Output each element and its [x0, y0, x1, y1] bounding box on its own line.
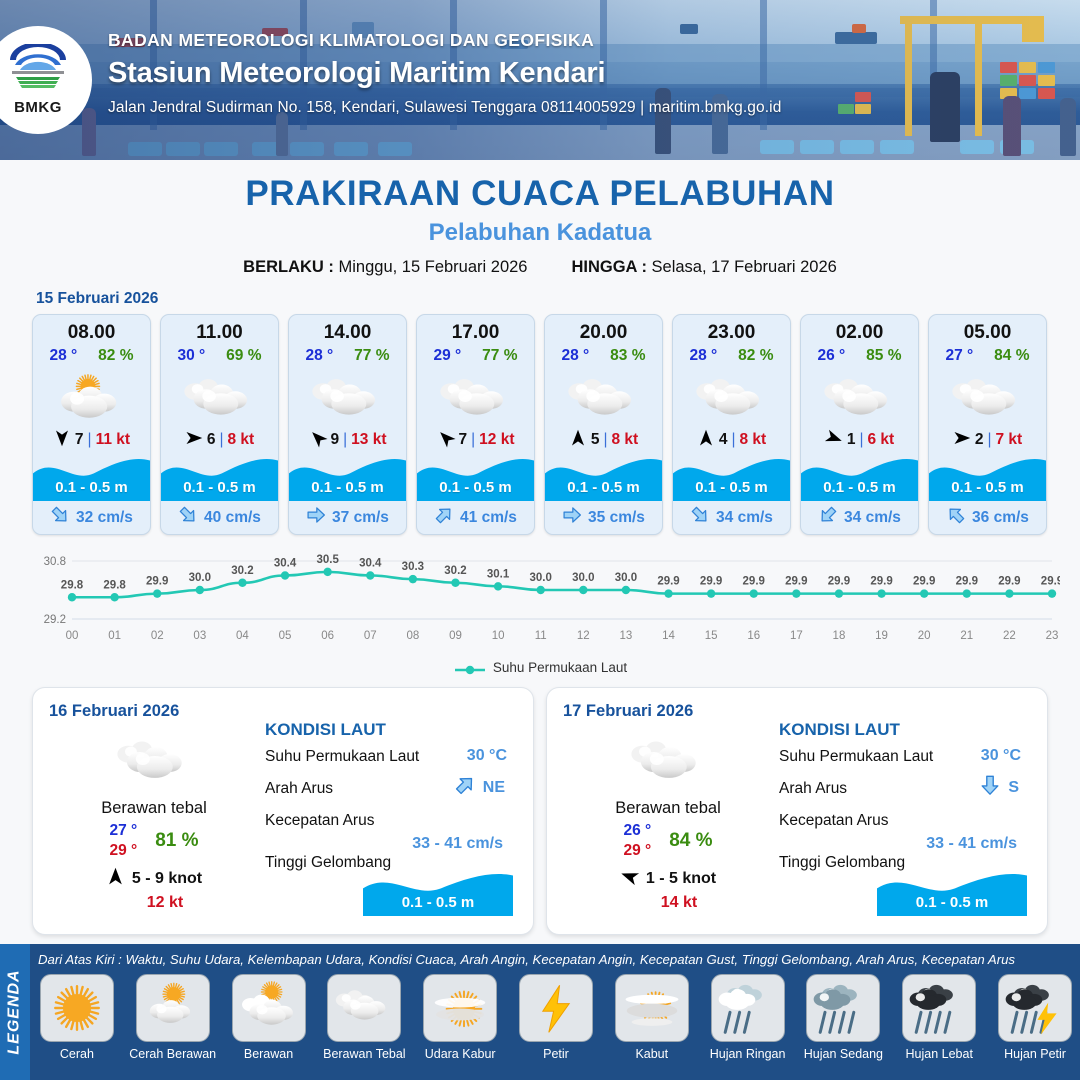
legend-item: Hujan Sedang: [799, 974, 889, 1061]
daily-condition: Berawan tebal: [563, 799, 773, 818]
legend-item-label: Hujan Sedang: [804, 1047, 883, 1061]
legend-bar: LEGENDA Dari Atas Kiri : Waktu, Suhu Uda…: [0, 944, 1080, 1080]
card-wave: 0.1 - 0.5 m: [929, 455, 1046, 501]
svg-text:30.3: 30.3: [402, 561, 424, 573]
card-wind-row: 1 | 6 kt: [801, 425, 918, 455]
wind-direction-arrow-icon: [953, 429, 971, 452]
sst-chart: 30.829.229.80029.80129.90230.00330.20430…: [20, 547, 1060, 657]
card-wind-separator: |: [88, 431, 92, 449]
card-humidity: 82 %: [738, 347, 773, 365]
card-current-row: 35 cm/s: [545, 501, 662, 534]
card-time: 17.00: [417, 315, 534, 344]
legend-item: Hujan Petir: [990, 974, 1080, 1061]
sst-label: Suhu Permukaan Laut: [779, 748, 933, 765]
card-current-speed: 37 cm/s: [332, 509, 389, 527]
legend-item-label: Berawan Tebal: [323, 1047, 405, 1061]
wind-direction-arrow-icon: [620, 867, 639, 891]
svg-text:09: 09: [449, 630, 462, 642]
wave-height-value: 0.1 - 0.5 m: [363, 894, 513, 911]
card-wind-separator: |: [987, 431, 991, 449]
card-wind-row: 2 | 7 kt: [929, 425, 1046, 455]
svg-text:20: 20: [918, 630, 931, 642]
light-rain-icon: [711, 974, 785, 1042]
daily-sea-conditions: KONDISI LAUT Suhu Permukaan Laut 30 °C A…: [773, 702, 1031, 920]
svg-text:29.9: 29.9: [870, 576, 892, 588]
legend-item: Hujan Ringan: [703, 974, 793, 1061]
card-wave-height: 0.1 - 0.5 m: [289, 479, 406, 496]
card-time: 14.00: [289, 315, 406, 344]
daily-temp-max: 29 °: [109, 842, 137, 860]
card-temp-hum-row: 28 ° 82 %: [673, 344, 790, 365]
cloudy-icon: [673, 367, 790, 425]
current-speed-label: Kecepatan Arus: [779, 812, 888, 829]
daily-left: 16 Februari 2026 Berawan tebal 27 ° 29 °…: [49, 702, 259, 920]
svg-text:19: 19: [875, 630, 888, 642]
card-humidity: 84 %: [994, 347, 1029, 365]
legend-item: Berawan Tebal: [319, 974, 409, 1061]
card-wave: 0.1 - 0.5 m: [417, 455, 534, 501]
wave-height-badge: 0.1 - 0.5 m: [363, 870, 513, 918]
svg-text:04: 04: [236, 630, 249, 642]
hourly-card[interactable]: 14.00 28 ° 77 % 9 | 13 kt 0.1 - 0.5 m 37…: [288, 314, 407, 535]
card-wave: 0.1 - 0.5 m: [673, 455, 790, 501]
current-direction-arrow-icon: [178, 505, 198, 530]
haze-icon: [423, 974, 497, 1042]
card-temp-hum-row: 29 ° 77 %: [417, 344, 534, 365]
wind-direction-arrow-icon: [569, 429, 587, 452]
svg-text:29.8: 29.8: [61, 579, 84, 591]
card-wind-direction: 5: [591, 431, 600, 449]
current-direction-arrow-icon: [306, 505, 326, 530]
cloudy-icon: [327, 974, 401, 1042]
daily-left: 17 Februari 2026 Berawan tebal 26 ° 29 °…: [563, 702, 773, 920]
current-direction-arrow-icon: [50, 505, 70, 530]
daily-condition: Berawan tebal: [49, 799, 259, 818]
cloudy-icon: [161, 367, 278, 425]
card-gust: 13 kt: [351, 431, 386, 449]
legend-item: Petir: [511, 974, 601, 1061]
svg-text:22: 22: [1003, 630, 1016, 642]
chart-legend: Suhu Permukaan Laut: [0, 660, 1080, 675]
card-gust: 12 kt: [479, 431, 514, 449]
svg-text:30.0: 30.0: [530, 572, 552, 584]
card-wave-height: 0.1 - 0.5 m: [33, 479, 150, 496]
legend-item-label: Kabut: [635, 1047, 668, 1061]
card-temperature: 28 °: [305, 347, 333, 365]
chart-legend-label: Suhu Permukaan Laut: [493, 660, 627, 675]
svg-text:30.0: 30.0: [572, 572, 594, 584]
validity-from-value: Minggu, 15 Februari 2026: [339, 258, 528, 276]
card-current-speed: 34 cm/s: [716, 509, 773, 527]
svg-text:30.0: 30.0: [189, 572, 211, 584]
legend-item-label: Petir: [543, 1047, 569, 1061]
card-wind-separator: |: [471, 431, 475, 449]
bmkg-logo-mark: [6, 44, 70, 98]
legend-item-label: Berawan: [244, 1047, 293, 1061]
daily-forecast-panels: 16 Februari 2026 Berawan tebal 27 ° 29 °…: [0, 675, 1080, 935]
cloudy-icon: [545, 367, 662, 425]
daily-gust: 14 kt: [585, 894, 773, 912]
svg-text:14: 14: [662, 630, 675, 642]
sea-conditions-title: KONDISI LAUT: [779, 720, 1031, 740]
daily-temp-max: 29 °: [623, 842, 651, 860]
card-temperature: 29 °: [433, 347, 461, 365]
svg-text:05: 05: [279, 630, 292, 642]
svg-text:29.8: 29.8: [103, 579, 126, 591]
card-wind-separator: |: [603, 431, 607, 449]
daily-wind-speed: 5 - 9 knot: [132, 870, 202, 888]
hourly-card[interactable]: 20.00 28 ° 83 % 5 | 8 kt 0.1 - 0.5 m 35 …: [544, 314, 663, 535]
card-gust: 8 kt: [611, 431, 638, 449]
wind-direction-arrow-icon: [53, 429, 71, 452]
hourly-forecast-cards: 08.00 28 ° 82 % 7 | 11 kt 0.1 - 0.5 m 32…: [0, 314, 1080, 535]
sst-label: Suhu Permukaan Laut: [265, 748, 419, 765]
daily-temp-min: 26 °: [623, 822, 651, 840]
svg-text:16: 16: [747, 630, 760, 642]
svg-text:21: 21: [960, 630, 973, 642]
daily-wind-row: 5 - 9 knot: [49, 867, 259, 891]
svg-text:29.2: 29.2: [44, 614, 66, 626]
header-text-block: BADAN METEOROLOGI KLIMATOLOGI DAN GEOFIS…: [108, 30, 781, 117]
legend-item-label: Hujan Lebat: [906, 1047, 973, 1061]
card-current-speed: 32 cm/s: [76, 509, 133, 527]
daily-gust: 12 kt: [71, 894, 259, 912]
hourly-card[interactable]: 05.00 27 ° 84 % 2 | 7 kt 0.1 - 0.5 m 36 …: [928, 314, 1047, 535]
card-gust: 6 kt: [867, 431, 894, 449]
heavy-rain-icon: [902, 974, 976, 1042]
card-wind-row: 7 | 11 kt: [33, 425, 150, 455]
legend-note: Dari Atas Kiri : Waktu, Suhu Udara, Kele…: [38, 952, 1074, 967]
card-wind-direction: 7: [459, 431, 468, 449]
card-wave-height: 0.1 - 0.5 m: [161, 479, 278, 496]
svg-text:30.1: 30.1: [487, 568, 510, 580]
legend-side-title-text: LEGENDA: [6, 969, 24, 1054]
card-temperature: 28 °: [49, 347, 77, 365]
card-current-speed: 34 cm/s: [844, 509, 901, 527]
card-time: 02.00: [801, 315, 918, 344]
daily-wind-row: 1 - 5 knot: [563, 867, 773, 891]
current-direction-arrow-icon: [818, 505, 838, 530]
sst-value: 30 °C: [981, 747, 1021, 764]
svg-text:15: 15: [705, 630, 718, 642]
legend-side-title: LEGENDA: [0, 944, 30, 1080]
card-wind-row: 5 | 8 kt: [545, 425, 662, 455]
daily-sea-conditions: KONDISI LAUT Suhu Permukaan Laut 30 °C A…: [259, 702, 517, 920]
daily-humidity: 81 %: [155, 830, 198, 852]
svg-text:29.9: 29.9: [146, 576, 168, 588]
legend-item-label: Cerah Berawan: [129, 1047, 216, 1061]
current-speed-value: 33 - 41 cm/s: [412, 835, 503, 852]
daily-temp-hum: 27 ° 29 ° 81 %: [49, 822, 259, 860]
svg-text:17: 17: [790, 630, 803, 642]
validity-from: BERLAKU : Minggu, 15 Februari 2026: [243, 258, 527, 277]
card-wave-height: 0.1 - 0.5 m: [673, 479, 790, 496]
card-temp-hum-row: 26 ° 85 %: [801, 344, 918, 365]
legend-marker-icon: [453, 663, 487, 673]
hourly-card[interactable]: 17.00 29 ° 77 % 7 | 12 kt 0.1 - 0.5 m 41…: [416, 314, 535, 535]
card-time: 11.00: [161, 315, 278, 344]
card-time: 20.00: [545, 315, 662, 344]
card-wave: 0.1 - 0.5 m: [161, 455, 278, 501]
legend-item: Berawan: [224, 974, 314, 1061]
card-wind-separator: |: [731, 431, 735, 449]
svg-text:29.9: 29.9: [785, 576, 807, 588]
cloudy-icon: [801, 367, 918, 425]
svg-text:30.0: 30.0: [615, 572, 637, 584]
card-temp-hum-row: 28 ° 83 %: [545, 344, 662, 365]
current-direction-arrow-icon: [946, 505, 966, 530]
card-wave: 0.1 - 0.5 m: [33, 455, 150, 501]
card-temp-hum-row: 28 ° 77 %: [289, 344, 406, 365]
wind-direction-arrow-icon: [106, 867, 125, 891]
current-direction-value: S: [1008, 779, 1019, 797]
card-time: 05.00: [929, 315, 1046, 344]
svg-text:29.9: 29.9: [657, 576, 679, 588]
card-wind-direction: 2: [975, 431, 984, 449]
validity-to-label: HINGGA :: [571, 258, 646, 276]
card-temperature: 28 °: [561, 347, 589, 365]
sst-value: 30 °C: [467, 747, 507, 764]
card-humidity: 77 %: [482, 347, 517, 365]
daily-date: 16 Februari 2026: [49, 702, 259, 721]
card-wind-direction: 9: [331, 431, 340, 449]
card-wave: 0.1 - 0.5 m: [801, 455, 918, 501]
daily-panel[interactable]: 17 Februari 2026 Berawan tebal 26 ° 29 °…: [546, 687, 1048, 935]
svg-text:30.2: 30.2: [444, 565, 466, 577]
daily-wind-speed: 1 - 5 knot: [646, 870, 716, 888]
card-wind-direction: 4: [719, 431, 728, 449]
card-humidity: 82 %: [98, 347, 133, 365]
card-current-speed: 36 cm/s: [972, 509, 1029, 527]
legend-item: Cerah: [32, 974, 122, 1061]
card-wind-separator: |: [219, 431, 223, 449]
legend-item: Hujan Lebat: [894, 974, 984, 1061]
current-speed-value: 33 - 41 cm/s: [926, 835, 1017, 852]
organization-name: BADAN METEOROLOGI KLIMATOLOGI DAN GEOFIS…: [108, 30, 781, 51]
card-temperature: 27 °: [945, 347, 973, 365]
validity-from-label: BERLAKU :: [243, 258, 334, 276]
wave-height-label: Tinggi Gelombang: [265, 854, 391, 871]
card-wind-row: 4 | 8 kt: [673, 425, 790, 455]
card-wave-height: 0.1 - 0.5 m: [929, 479, 1046, 496]
daily-temp-range: 26 ° 29 °: [623, 822, 651, 860]
cloudy-icon: [929, 367, 1046, 425]
daily-date: 17 Februari 2026: [563, 702, 773, 721]
svg-text:29.9: 29.9: [1041, 576, 1060, 588]
lightning-icon: [519, 974, 593, 1042]
card-wind-row: 9 | 13 kt: [289, 425, 406, 455]
card-wind-row: 6 | 8 kt: [161, 425, 278, 455]
card-gust: 8 kt: [739, 431, 766, 449]
partly-cloudy-icon: [33, 367, 150, 425]
card-humidity: 77 %: [354, 347, 389, 365]
wave-height-label: Tinggi Gelombang: [779, 854, 905, 871]
daily-humidity: 84 %: [669, 830, 712, 852]
card-current-row: 41 cm/s: [417, 501, 534, 534]
svg-text:13: 13: [620, 630, 633, 642]
legend-item-label: Cerah: [60, 1047, 94, 1061]
current-direction-arrow-icon: [454, 774, 476, 801]
card-wave: 0.1 - 0.5 m: [289, 455, 406, 501]
wind-direction-arrow-icon: [185, 429, 203, 452]
daily-temp-range: 27 ° 29 °: [109, 822, 137, 860]
legend-item: Udara Kabur: [415, 974, 505, 1061]
card-time: 23.00: [673, 315, 790, 344]
legend-item: Cerah Berawan: [128, 974, 218, 1061]
moderate-rain-icon: [806, 974, 880, 1042]
wave-height-value: 0.1 - 0.5 m: [877, 894, 1027, 911]
current-direction-value: NE: [483, 779, 505, 797]
svg-text:11: 11: [535, 630, 547, 642]
legend-item-label: Udara Kabur: [425, 1047, 496, 1061]
thunderstorm-icon: [998, 974, 1072, 1042]
card-current-speed: 35 cm/s: [588, 509, 645, 527]
current-direction-arrow-icon: [690, 505, 710, 530]
svg-text:00: 00: [66, 630, 79, 642]
cloud-sun-icon: [232, 974, 306, 1042]
card-current-row: 34 cm/s: [673, 501, 790, 534]
hourly-card[interactable]: 23.00 28 ° 82 % 4 | 8 kt 0.1 - 0.5 m 34 …: [672, 314, 791, 535]
card-gust: 11 kt: [96, 431, 130, 449]
card-temperature: 28 °: [689, 347, 717, 365]
card-humidity: 85 %: [866, 347, 901, 365]
legend-item-label: Hujan Petir: [1004, 1047, 1066, 1061]
svg-text:18: 18: [833, 630, 846, 642]
hourly-card[interactable]: 02.00 26 ° 85 % 1 | 6 kt 0.1 - 0.5 m 34 …: [800, 314, 919, 535]
wind-direction-arrow-icon: [309, 429, 327, 452]
card-humidity: 83 %: [610, 347, 645, 365]
daily-temp-hum: 26 ° 29 ° 84 %: [563, 822, 773, 860]
card-gust: 7 kt: [995, 431, 1022, 449]
fog-icon: [615, 974, 689, 1042]
hourly-card[interactable]: 11.00 30 ° 69 % 6 | 8 kt 0.1 - 0.5 m 40 …: [160, 314, 279, 535]
current-direction-label: Arah Arus: [265, 780, 333, 797]
svg-text:30.5: 30.5: [316, 554, 339, 566]
svg-text:29.9: 29.9: [743, 576, 765, 588]
page-title: PRAKIRAAN CUACA PELABUHAN: [0, 174, 1080, 214]
card-wind-separator: |: [343, 431, 347, 449]
current-direction-arrow-icon: [434, 505, 454, 530]
svg-text:30.8: 30.8: [44, 556, 66, 568]
svg-text:23: 23: [1046, 630, 1059, 642]
card-wave: 0.1 - 0.5 m: [545, 455, 662, 501]
wind-direction-arrow-icon: [437, 429, 455, 452]
hourly-date-label: 15 Februari 2026: [36, 290, 1080, 308]
card-temp-hum-row: 30 ° 69 %: [161, 344, 278, 365]
page-subtitle: Pelabuhan Kadatua: [0, 219, 1080, 247]
svg-text:01: 01: [108, 630, 121, 642]
daily-panel[interactable]: 16 Februari 2026 Berawan tebal 27 ° 29 °…: [32, 687, 534, 935]
validity-row: BERLAKU : Minggu, 15 Februari 2026 HINGG…: [0, 258, 1080, 277]
wave-height-badge: 0.1 - 0.5 m: [877, 870, 1027, 918]
card-current-row: 36 cm/s: [929, 501, 1046, 534]
card-wind-direction: 6: [207, 431, 216, 449]
svg-text:02: 02: [151, 630, 164, 642]
card-temperature: 30 °: [177, 347, 205, 365]
station-address: Jalan Jendral Sudirman No. 158, Kendari,…: [108, 99, 781, 117]
svg-text:30.4: 30.4: [274, 558, 297, 570]
card-wind-row: 7 | 12 kt: [417, 425, 534, 455]
sea-conditions-title: KONDISI LAUT: [265, 720, 517, 740]
current-direction-arrow-icon: [562, 505, 582, 530]
validity-to-value: Selasa, 17 Februari 2026: [652, 258, 837, 276]
svg-text:29.9: 29.9: [998, 576, 1020, 588]
card-temp-hum-row: 28 ° 82 %: [33, 344, 150, 365]
validity-to: HINGGA : Selasa, 17 Februari 2026: [571, 258, 836, 277]
legend-item-label: Hujan Ringan: [710, 1047, 786, 1061]
svg-text:29.9: 29.9: [913, 576, 935, 588]
hourly-card[interactable]: 08.00 28 ° 82 % 7 | 11 kt 0.1 - 0.5 m 32…: [32, 314, 151, 535]
card-wind-direction: 1: [847, 431, 856, 449]
card-wind-direction: 7: [75, 431, 84, 449]
card-humidity: 69 %: [226, 347, 261, 365]
card-current-speed: 41 cm/s: [460, 509, 517, 527]
cloudy-icon: [289, 367, 406, 425]
svg-text:03: 03: [193, 630, 206, 642]
cloudy-icon: [417, 367, 534, 425]
sun-cloud-icon: [136, 974, 210, 1042]
wind-direction-arrow-icon: [697, 429, 715, 452]
svg-text:06: 06: [321, 630, 334, 642]
svg-text:29.9: 29.9: [700, 576, 722, 588]
card-wave-height: 0.1 - 0.5 m: [801, 479, 918, 496]
cloudy-icon: [49, 727, 259, 791]
page-header: BMKG BADAN METEOROLOGI KLIMATOLOGI DAN G…: [0, 0, 1080, 160]
card-temp-hum-row: 27 ° 84 %: [929, 344, 1046, 365]
card-time: 08.00: [33, 315, 150, 344]
card-gust: 8 kt: [227, 431, 254, 449]
card-current-speed: 40 cm/s: [204, 509, 261, 527]
card-wind-separator: |: [859, 431, 863, 449]
current-speed-label: Kecepatan Arus: [265, 812, 374, 829]
card-temperature: 26 °: [817, 347, 845, 365]
card-current-row: 37 cm/s: [289, 501, 406, 534]
cloudy-icon: [563, 727, 773, 791]
card-current-row: 34 cm/s: [801, 501, 918, 534]
svg-text:30.2: 30.2: [231, 565, 253, 577]
svg-text:08: 08: [406, 630, 419, 642]
svg-text:10: 10: [492, 630, 505, 642]
card-current-row: 40 cm/s: [161, 501, 278, 534]
current-direction-label: Arah Arus: [779, 780, 847, 797]
wind-direction-arrow-icon: [825, 429, 843, 452]
svg-text:29.9: 29.9: [828, 576, 850, 588]
card-current-row: 32 cm/s: [33, 501, 150, 534]
legend-items: Cerah Cerah Berawan Berawan Berawan Teba…: [32, 974, 1080, 1061]
card-wave-height: 0.1 - 0.5 m: [417, 479, 534, 496]
current-direction-arrow-icon: [979, 774, 1001, 801]
svg-text:12: 12: [577, 630, 590, 642]
svg-text:29.9: 29.9: [956, 576, 978, 588]
bmkg-logo-text: BMKG: [14, 99, 62, 116]
svg-text:07: 07: [364, 630, 377, 642]
sun-icon: [40, 974, 114, 1042]
card-wave-height: 0.1 - 0.5 m: [545, 479, 662, 496]
legend-item: Kabut: [607, 974, 697, 1061]
station-name: Stasiun Meteorologi Maritim Kendari: [108, 57, 781, 90]
daily-temp-min: 27 °: [109, 822, 137, 840]
svg-text:30.4: 30.4: [359, 558, 382, 570]
